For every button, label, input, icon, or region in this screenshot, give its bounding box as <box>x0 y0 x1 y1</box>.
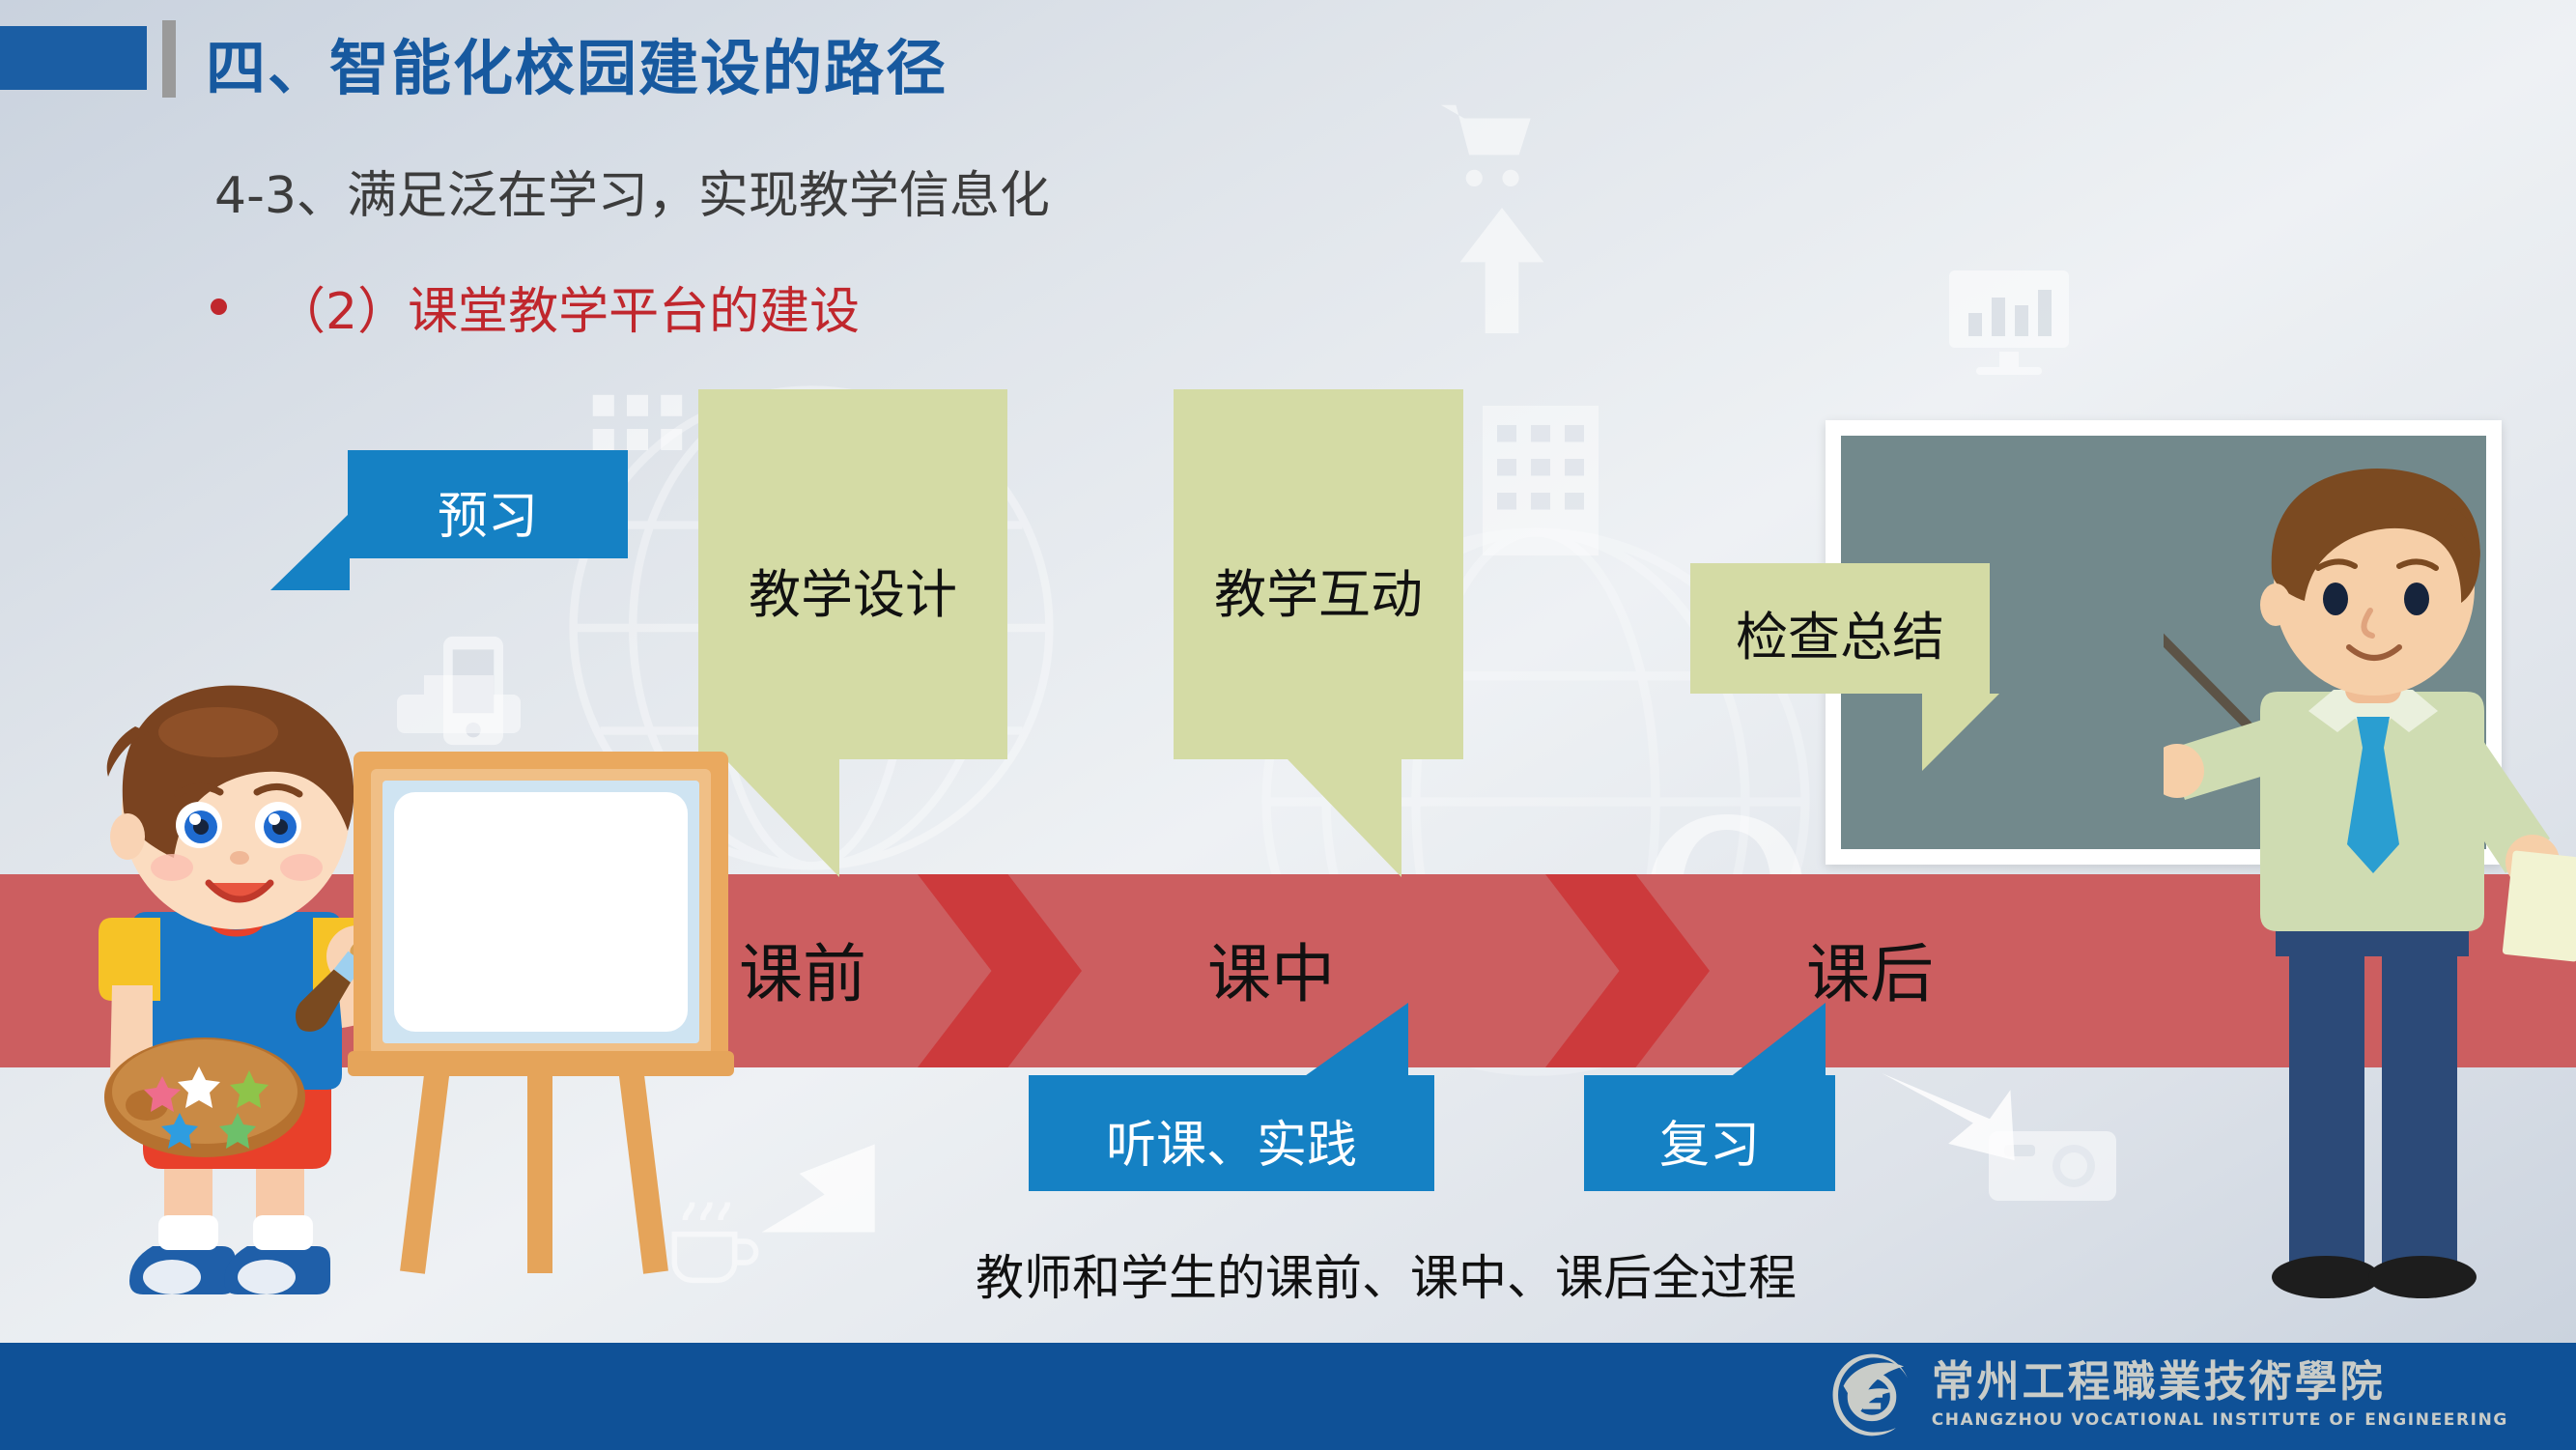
teacher-illustration <box>2164 464 2576 1333</box>
callout-check-summary[interactable]: 检查总结 <box>1690 563 1990 694</box>
process-stage-label-2: 课中 <box>1207 923 1335 1015</box>
diagram-caption: 教师和学生的课前、课中、课后全过程 <box>976 1239 1797 1309</box>
arrow-down-right-icon <box>1874 1067 2019 1164</box>
slide-canvas: 互联网+ e <box>0 0 2576 1450</box>
institution-logo: 常州工程職業技術學院 CHANGZHOU VOCATIONAL INSTITUT… <box>1827 1350 2508 1439</box>
logo-chinese-name: 常州工程職業技術學院 <box>1932 1360 2508 1405</box>
bullet-row: （2）课堂教学平台的建设 <box>211 270 860 343</box>
process-stage-label-1: 课前 <box>739 923 866 1015</box>
page-title: 四、智能化校园建设的路径 <box>206 19 948 106</box>
process-stage-label-3: 课后 <box>1806 923 1934 1015</box>
bullet-text: （2）课堂教学平台的建设 <box>275 270 860 343</box>
footer-bar: 常州工程職業技術學院 CHANGZHOU VOCATIONAL INSTITUT… <box>0 1343 2576 1450</box>
callout-label: 预习 <box>348 475 628 548</box>
camera-icon <box>1985 1116 2120 1212</box>
callout-label: 教学设计 <box>698 552 1007 628</box>
subtitle: 4-3、满足泛在学习，实现教学信息化 <box>214 155 1050 227</box>
callout-review[interactable]: 复习 <box>1584 1075 1835 1191</box>
callout-label: 教学互动 <box>1174 552 1463 628</box>
logo-mark-icon <box>1827 1350 1916 1439</box>
office-building-icon <box>1468 382 1613 565</box>
presentation-chart-icon <box>1941 263 2077 379</box>
arrow-up-icon <box>1458 208 1545 333</box>
easel-illustration <box>338 744 744 1285</box>
callout-label: 检查总结 <box>1690 594 1990 670</box>
callout-teaching-interaction[interactable]: 教学互动 <box>1174 389 1463 759</box>
callout-label: 复习 <box>1584 1104 1835 1177</box>
arrow-down-left-icon <box>753 1135 879 1241</box>
bullet-dot-icon <box>211 299 227 315</box>
callout-tail-teaching-interaction <box>1288 759 1401 877</box>
shopping-cart-icon <box>1430 92 1545 198</box>
callout-tail-preview <box>270 513 350 590</box>
callout-listen-practice[interactable]: 听课、实践 <box>1029 1075 1434 1191</box>
callout-label: 听课、实践 <box>1029 1104 1434 1177</box>
callout-preview[interactable]: 预习 <box>348 450 628 558</box>
callout-teaching-design[interactable]: 教学设计 <box>698 389 1007 759</box>
header-divider-bar <box>162 20 176 98</box>
header-accent-block <box>0 26 147 90</box>
logo-english-name: CHANGZHOU VOCATIONAL INSTITUTE OF ENGINE… <box>1932 1410 2508 1430</box>
